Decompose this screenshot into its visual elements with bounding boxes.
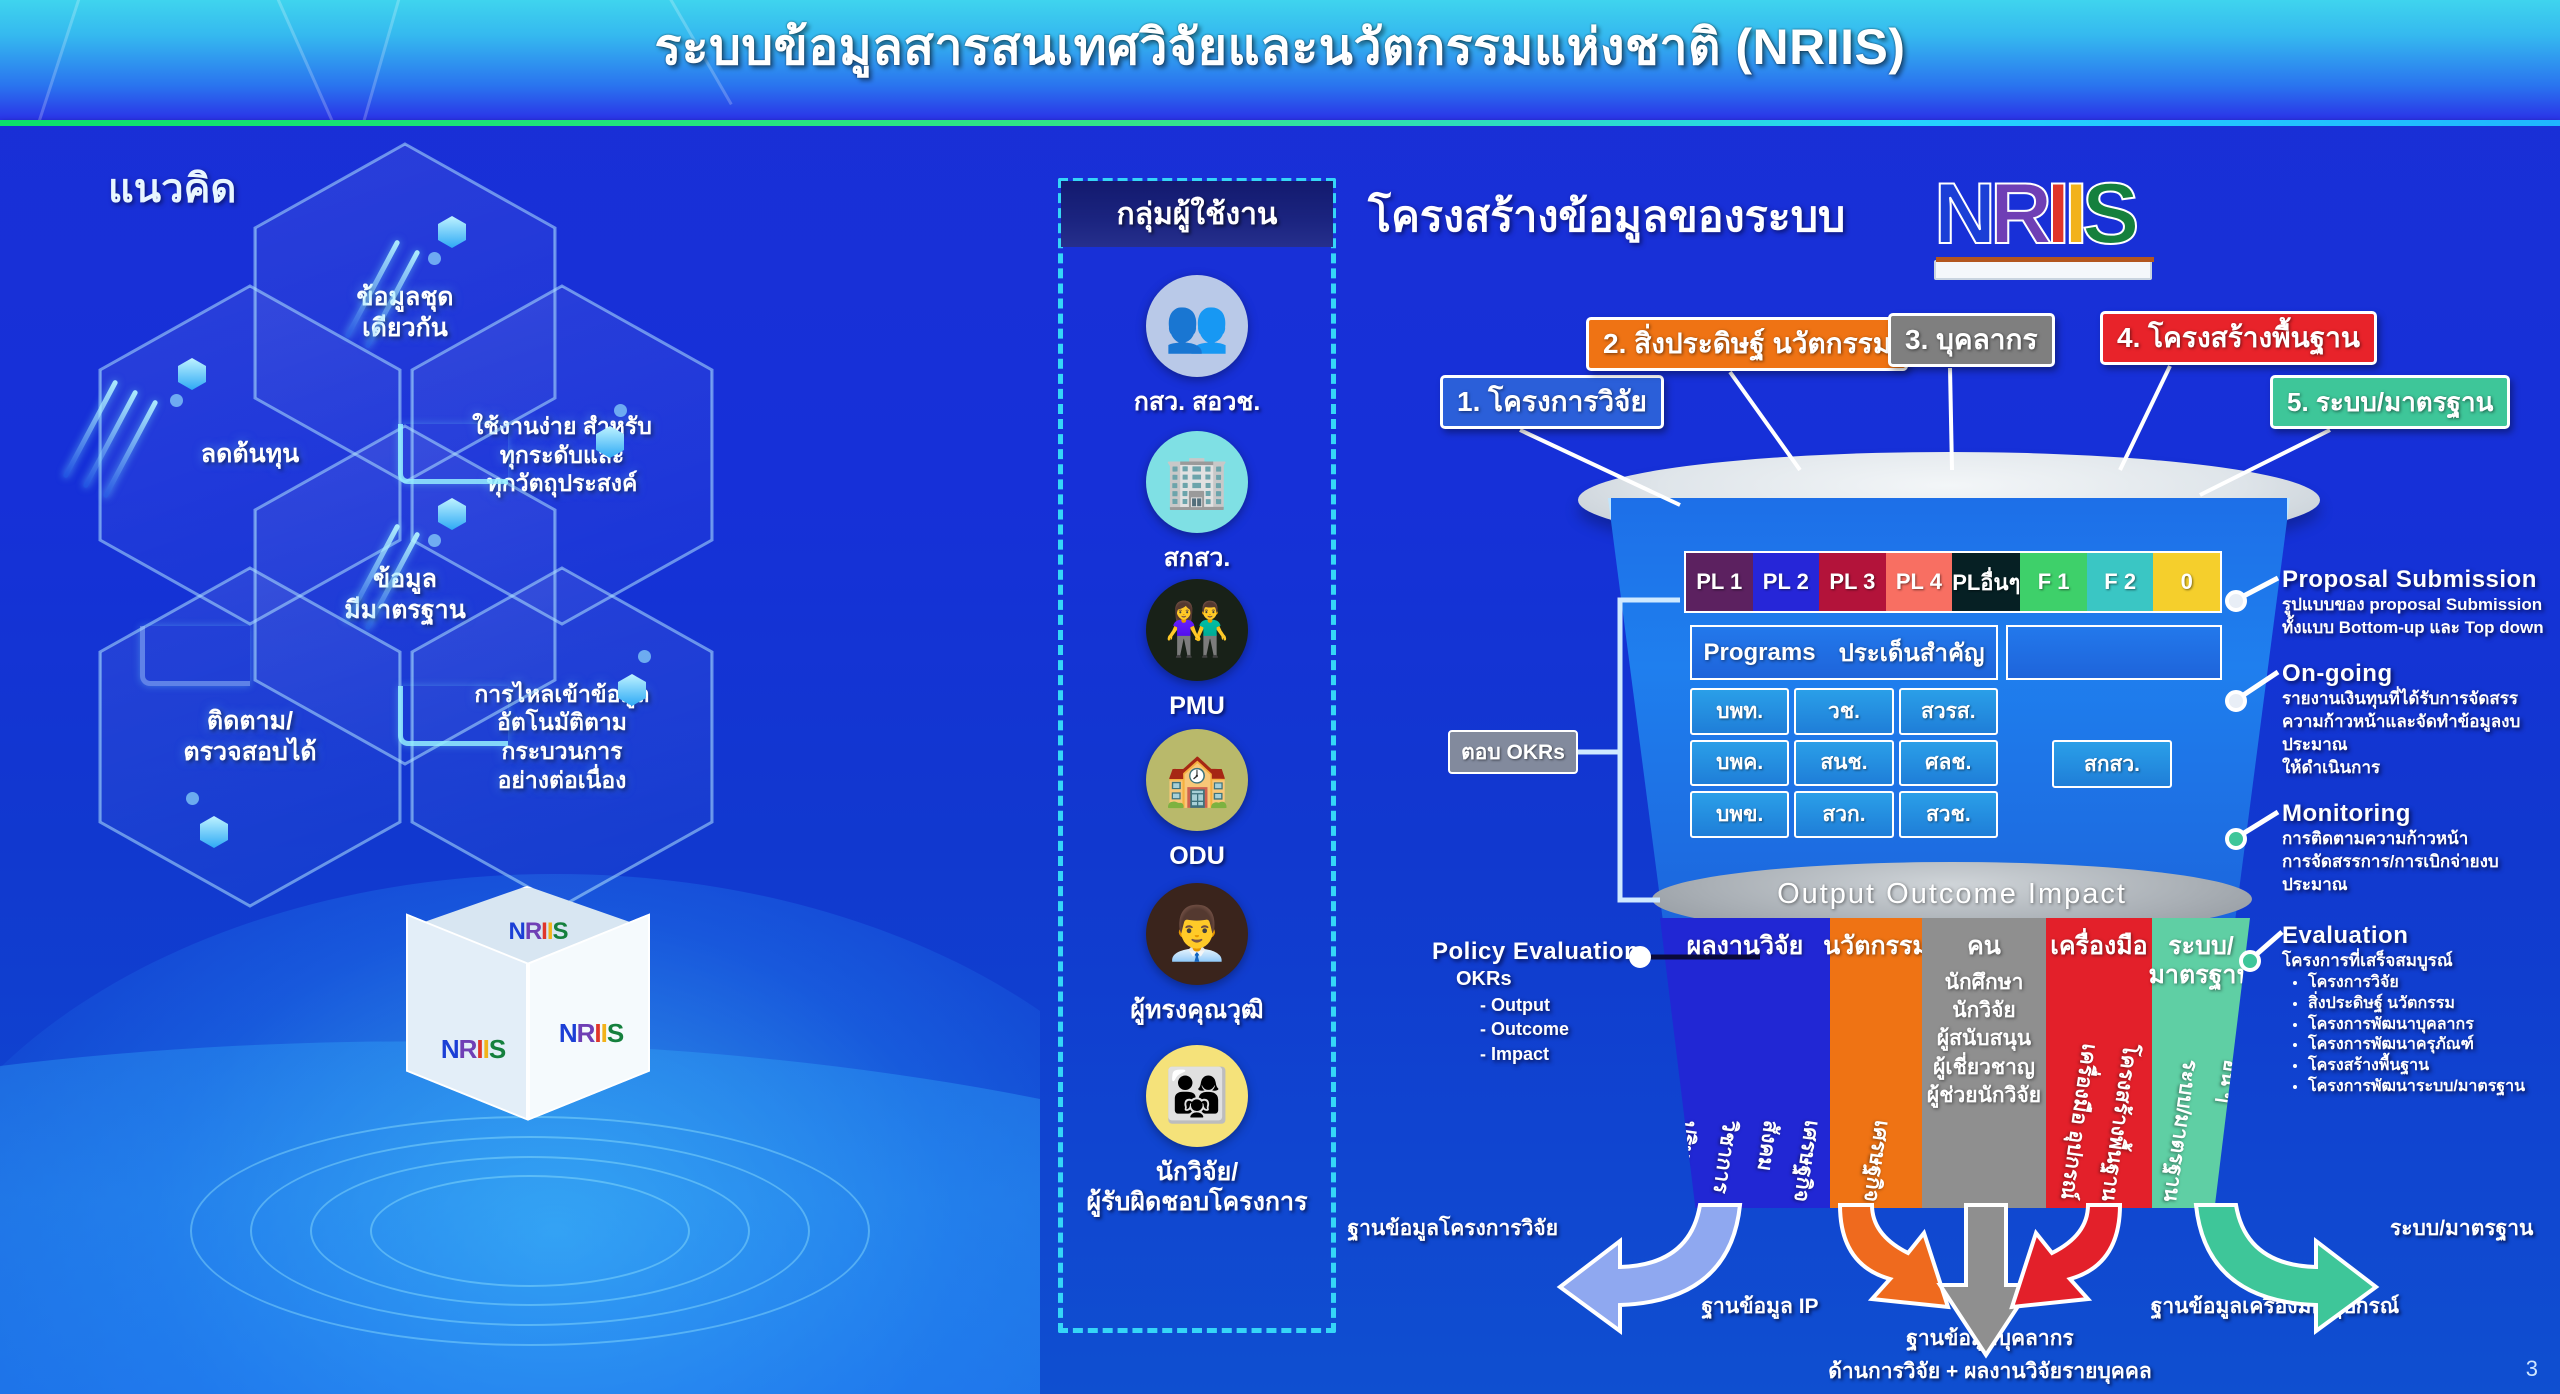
diagram-tag[interactable]: 5. ระบบ/มาตรฐาน (2270, 375, 2510, 429)
bottom-arrow-label: ฐานข้อมูล IP (1650, 1290, 1870, 1323)
pl-cell[interactable]: F 2 (2087, 553, 2154, 611)
output-outcome-impact-label: Output Outcome Impact (1652, 878, 2252, 911)
user-group-item-label: ODU (1063, 841, 1331, 871)
annotation-bullet: - Outcome (1480, 1017, 1662, 1041)
hex-label: ข้อมูล มีมาตรฐาน (332, 564, 478, 627)
user-group-item[interactable]: 🏢สกสว. (1063, 431, 1331, 573)
annotation-heading: Policy Evaluation (1432, 938, 1662, 966)
circuit-dot (428, 252, 441, 265)
annotation-body: รูปแบบของ proposal Submission ทั้งแบบ Bo… (2282, 594, 2552, 640)
annotation-body: โครงการที่เสร็จสมบูรณ์ (2282, 950, 2552, 973)
user-group-item-label: สกสว. (1063, 543, 1331, 573)
output-column-vertical-label: วิชาการ (1702, 1118, 1746, 1204)
office-building-icon: 🏢 (1146, 431, 1248, 533)
school-building-icon: 🏫 (1146, 729, 1248, 831)
bottom-arrow-label: ฐานข้อมูลเครื่องมือ อุปกรณ์ (2110, 1290, 2440, 1323)
bottom-arrow-label: ฐานข้อมูลบุคลากร ด้านการวิจัย + ผลงานวิจ… (1790, 1322, 2190, 1388)
pl-cell[interactable]: PL 2 (1753, 553, 1820, 611)
circuit-dot (186, 792, 199, 805)
programs-right-empty-box (2006, 625, 2222, 680)
user-group-item-label: กสว. สอวช. (1063, 387, 1331, 417)
nriis-logo-letter: N (1934, 166, 1990, 262)
annotation-heading: Monitoring (2282, 800, 2552, 828)
program-cell[interactable]: วช. (1794, 688, 1893, 735)
annotation-bullet: สิ่งประดิษฐ์ นวัตกรรม (2308, 994, 2552, 1015)
output-column-vertical-label: เศรษฐกิจ (1854, 1118, 1898, 1204)
user-group-item-label: ผู้ทรงคุณวุฒิ (1063, 995, 1331, 1025)
nriis-logo-letter: R (1990, 166, 2046, 262)
output-column-head: คน (1967, 932, 2001, 961)
program-cell[interactable]: สวก. (1794, 791, 1893, 838)
output-column-vertical-group: ระบบ/มาตรฐานอื่น ๆ (2152, 1059, 2250, 1202)
cube-right-label: NRIIS (536, 1018, 646, 1049)
circuit-dot (638, 650, 651, 663)
output-column-vertical-label: เศรษฐกิจ (1784, 1118, 1828, 1204)
output-column: ผลงานวิจัยปริมาณวิชาการสังคมเศรษฐกิจ (1660, 918, 1830, 1208)
output-column-vertical-label: ปริมาณ (1661, 1118, 1705, 1204)
hex-label: ติดตาม/ ตรวจสอบได้ (171, 706, 328, 769)
sksw-box: สกสว. (2052, 740, 2172, 788)
arrow-down-right (2012, 1205, 2120, 1307)
diagram-annotation: On-goingรายงานเงินทุนที่ได้รับการจัดสรร … (2282, 660, 2552, 780)
user-group-item[interactable]: 👨‍💼ผู้ทรงคุณวุฒิ (1063, 883, 1331, 1025)
program-cell[interactable]: บพค. (1690, 740, 1789, 787)
annotation-bullet: โครงการพัฒนาระบบ/มาตรฐาน (2308, 1077, 2552, 1098)
bottom-arrow-label: ระบบ/มาตรฐาน (2390, 1212, 2560, 1245)
annotation-bullet: - Impact (1480, 1042, 1662, 1066)
programs-label: Programs (1704, 639, 1816, 667)
people-group-icon: 👥 (1146, 275, 1248, 377)
annotation-bullet-list: โครงการวิจัยสิ่งประดิษฐ์ นวัตกรรมโครงการ… (2308, 973, 2552, 1098)
circuit-dot (428, 534, 441, 547)
pl-cell[interactable]: F 1 (2020, 553, 2087, 611)
annotation-bullet: โครงการวิจัย (2308, 973, 2552, 994)
pl-cell[interactable]: 0 (2153, 553, 2220, 611)
page-title: ระบบข้อมูลสารสนเทศวิจัยและนวัตกรรมแห่งชา… (0, 8, 2560, 87)
output-column: ระบบ/ มาตรฐานระบบ/มาตรฐานอื่น ๆ (2152, 918, 2250, 1208)
annotation-heading: On-going (2282, 660, 2552, 688)
nriis-logo-letter: S (2082, 166, 2133, 262)
concept-panel: แนวคิด ลดต้นทุน ข้อมูลชุด เดียวกัน ใช้งา… (0, 126, 1040, 1394)
diagram-tag[interactable]: 2. สิ่งประดิษฐ์ นวัตกรรม (1586, 317, 1908, 371)
output-column-head: เครื่องมือ (2050, 932, 2147, 961)
diagram-tag[interactable]: 1. โครงการวิจัย (1440, 375, 1664, 429)
circuit-elbow (140, 626, 250, 686)
policy-evaluation-annotation: Policy EvaluationOKRs- Output- Outcome- … (1432, 938, 1662, 1066)
output-column-vertical-group: เศรษฐกิจ (1830, 1120, 1922, 1202)
program-cell[interactable]: สวช. (1899, 791, 1998, 838)
program-cell[interactable]: สวรส. (1899, 688, 1998, 735)
nriis-cube-logo: NRIIS NRIIS NRIIS (378, 886, 678, 1186)
nriis-logo-letters: NRIIS (1934, 168, 2152, 260)
hex-label: ข้อมูลชุด เดียวกัน (344, 282, 465, 345)
program-cell[interactable]: บพข. (1690, 791, 1789, 838)
okr-response-box: ตอบ OKRs (1448, 730, 1578, 774)
bottom-arrow-label: ฐานข้อมูลโครงการวิจัย (1318, 1212, 1558, 1245)
program-cell[interactable]: บพท. (1690, 688, 1789, 735)
diagram-annotation: Evaluationโครงการที่เสร็จสมบูรณ์โครงการว… (2282, 922, 2552, 1098)
user-group-item[interactable]: 👨‍👩‍👧นักวิจัย/ ผู้รับผิดชอบโครงการ (1063, 1045, 1331, 1217)
page-number: 3 (2526, 1356, 2538, 1382)
output-column-list: นักศึกษา นักวิจัย ผู้สนับสนุน ผู้เชี่ยวช… (1927, 969, 2041, 1111)
nriis-logo-bar (1934, 260, 2152, 280)
user-group-item[interactable]: 🏫ODU (1063, 729, 1331, 871)
diagram-title: โครงสร้างข้อมูลของระบบ (1368, 182, 1845, 250)
programs-header: Programs ประเด็นสำคัญ (1690, 625, 1998, 680)
user-group-item-label: นักวิจัย/ ผู้รับผิดชอบโครงการ (1063, 1157, 1331, 1217)
hex-label: ลดต้นทุน (189, 439, 311, 470)
output-column: คนนักศึกษา นักวิจัย ผู้สนับสนุน ผู้เชี่ย… (1922, 918, 2046, 1208)
annotation-bullet: โครงสร้างพื้นฐาน (2308, 1056, 2552, 1077)
circuit-dot (170, 394, 183, 407)
diagram-tag[interactable]: 4. โครงสร้างพื้นฐาน (2100, 311, 2377, 365)
annotation-heading: Proposal Submission (2282, 566, 2552, 594)
user-group-item[interactable]: 👥กสว. สอวช. (1063, 275, 1331, 417)
nriis-logo: NRIIS (1934, 168, 2152, 280)
concept-label: แนวคิด (108, 156, 236, 220)
annotation-body: OKRs (1456, 966, 1662, 993)
circuit-dot (614, 404, 627, 417)
annotation-bullet: โครงการพัฒนาบุคลากร (2308, 1015, 2552, 1036)
annotation-bullet: - Output (1480, 993, 1662, 1017)
slide-root: ระบบข้อมูลสารสนเทศวิจัยและนวัตกรรมแห่งชา… (0, 0, 2560, 1394)
output-column-head: ระบบ/ มาตรฐาน (2148, 932, 2253, 990)
nriis-logo-letter: I (2046, 166, 2064, 262)
circuit-elbow (398, 424, 508, 484)
diagram-annotation: Monitoringการติดตามความก้าวหน้า การจัดสร… (2282, 800, 2552, 897)
pl-cell[interactable]: PLอื่นๆ (1952, 553, 2020, 611)
user-group-panel: กลุ่มผู้ใช้งาน 👥กสว. สอวช.🏢สกสว.👫PMU🏫ODU… (1058, 178, 1336, 1333)
diagram-annotation: Proposal Submissionรูปแบบของ proposal Su… (2282, 566, 2552, 640)
programs-grid: บพท.วช.สวรส.บพค.สนช.ศลช.บพข.สวก.สวช. (1690, 688, 1998, 838)
program-cell[interactable]: ศลช. (1899, 740, 1998, 787)
nriis-logo-letter: I (2064, 166, 2082, 262)
annotation-bullet: โครงการพัฒนาครุภัณฑ์ (2308, 1035, 2552, 1056)
diagram-tag[interactable]: 3. บุคลากร (1888, 313, 2055, 367)
output-column-vertical-group: เครื่องมือ อุปกรณ์โครงสร้างพื้นฐาน (2046, 1043, 2152, 1202)
annotation-body: การติดตามความก้าวหน้า การจัดสรรการ/การเบ… (2282, 828, 2552, 897)
output-column: เครื่องมือเครื่องมือ อุปกรณ์โครงสร้างพื้… (2046, 918, 2152, 1208)
user-group-title: กลุ่มผู้ใช้งาน (1061, 181, 1333, 247)
program-cell[interactable]: สนช. (1794, 740, 1893, 787)
family-group-icon: 👨‍👩‍👧 (1146, 1045, 1248, 1147)
annotation-heading: Evaluation (2282, 922, 2552, 950)
pl-cell[interactable]: PL 1 (1686, 553, 1753, 611)
businessman-icon: 👨‍💼 (1146, 883, 1248, 985)
annotation-body: รายงานเงินทุนที่ได้รับการจัดสรร ความก้าว… (2282, 688, 2552, 780)
output-column-vertical-group: ปริมาณวิชาการสังคมเศรษฐกิจ (1660, 1120, 1830, 1202)
key-issues-label: ประเด็นสำคัญ (1839, 633, 1985, 672)
user-group-item-label: PMU (1063, 691, 1331, 721)
two-persons-icon: 👫 (1146, 579, 1248, 681)
output-column-head: ผลงานวิจัย (1687, 932, 1804, 961)
output-column-head: นวัตกรรม (1823, 932, 1929, 961)
pl-cell[interactable]: PL 3 (1819, 553, 1886, 611)
pl-row: PL 1PL 2PL 3PL 4PLอื่นๆF 1F 20 (1684, 551, 2222, 613)
output-column-vertical-label: สังคม (1743, 1118, 1787, 1204)
circuit-elbow (398, 686, 508, 746)
cube-left-label: NRIIS (418, 1034, 528, 1065)
user-group-item[interactable]: 👫PMU (1063, 579, 1331, 721)
pl-cell[interactable]: PL 4 (1886, 553, 1953, 611)
output-column: นวัตกรรมเศรษฐกิจ (1830, 918, 1922, 1208)
slide-header: ระบบข้อมูลสารสนเทศวิจัยและนวัตกรรมแห่งชา… (0, 0, 2560, 126)
output-columns: ผลงานวิจัยปริมาณวิชาการสังคมเศรษฐกิจนวัต… (1660, 918, 2250, 1208)
